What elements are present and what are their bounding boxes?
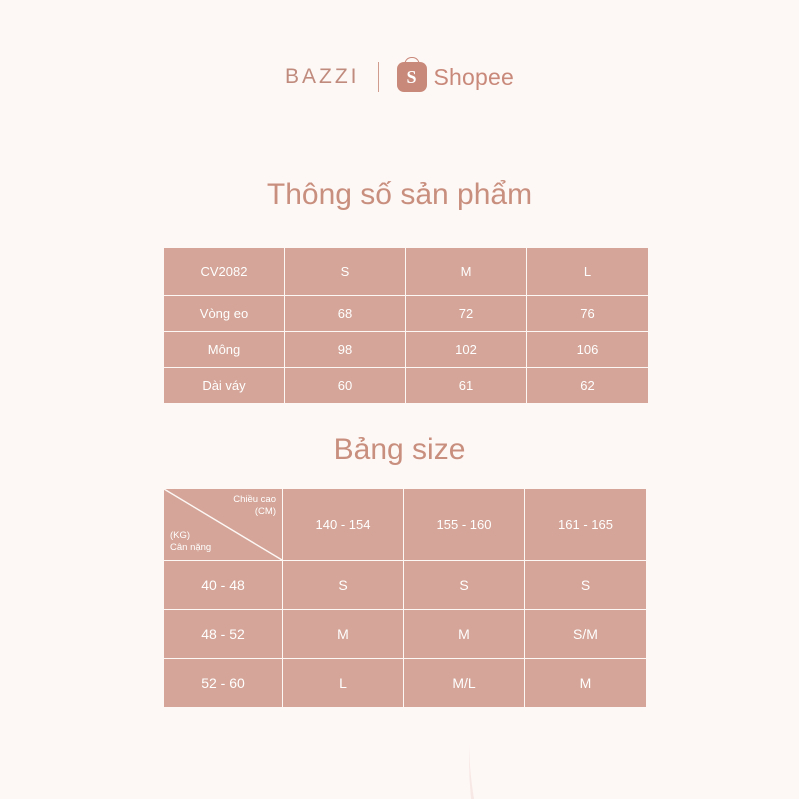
table-header-row: CV2082 S M L	[164, 248, 649, 296]
corner-weight-label: (KG) Cân nặng	[170, 530, 211, 554]
spec-header-size-l: L	[527, 248, 649, 296]
table-row: 52 - 60 L M/L M	[164, 659, 647, 708]
size-cell: M	[283, 610, 404, 659]
spec-row-label: Dài váy	[164, 368, 285, 404]
size-row-label: 40 - 48	[164, 561, 283, 610]
size-row-label: 48 - 52	[164, 610, 283, 659]
size-cell: S/M	[525, 610, 647, 659]
size-chart-table: Chiều cao (CM) (KG) Cân nặng 140 - 154 1…	[163, 488, 647, 708]
spec-cell: 76	[527, 296, 649, 332]
table-header-row: Chiều cao (CM) (KG) Cân nặng 140 - 154 1…	[164, 489, 647, 561]
size-header-height-2: 155 - 160	[404, 489, 525, 561]
size-cell: S	[283, 561, 404, 610]
brand-name-bazzi: BAZZI	[285, 65, 360, 89]
table-row: 40 - 48 S S S	[164, 561, 647, 610]
size-row-label: 52 - 60	[164, 659, 283, 708]
size-cell: S	[525, 561, 647, 610]
size-cell: L	[283, 659, 404, 708]
shopping-bag-icon: S	[397, 62, 427, 92]
corner-height-text: Chiều cao	[233, 494, 276, 506]
spec-cell: 62	[527, 368, 649, 404]
product-spec-table: CV2082 S M L Vòng eo 68 72 76 Mông 98 10…	[163, 247, 649, 404]
spec-header-size-m: M	[406, 248, 527, 296]
size-corner-cell: Chiều cao (CM) (KG) Cân nặng	[164, 489, 283, 561]
shopee-lockup: S Shopee	[397, 62, 515, 92]
corner-height-label: Chiều cao (CM)	[233, 494, 276, 518]
spec-cell: 60	[285, 368, 406, 404]
corner-height-unit: (CM)	[233, 506, 276, 518]
size-header-height-1: 140 - 154	[283, 489, 404, 561]
size-cell: M	[404, 610, 525, 659]
shopping-bag-letter: S	[406, 68, 416, 86]
size-cell: M/L	[404, 659, 525, 708]
corner-weight-unit: (KG)	[170, 530, 211, 542]
spec-header-size-s: S	[285, 248, 406, 296]
spec-cell: 61	[406, 368, 527, 404]
corner-weight-text: Cân nặng	[170, 542, 211, 554]
table-row: Vòng eo 68 72 76	[164, 296, 649, 332]
brand-divider	[378, 62, 379, 92]
size-header-height-3: 161 - 165	[525, 489, 647, 561]
spec-cell: 106	[527, 332, 649, 368]
table-row: Mông 98 102 106	[164, 332, 649, 368]
shopping-bag-handle	[404, 57, 419, 69]
brand-header: BAZZI S Shopee	[0, 62, 799, 92]
spec-header-code: CV2082	[164, 248, 285, 296]
spec-cell: 68	[285, 296, 406, 332]
brand-name-shopee: Shopee	[434, 64, 515, 91]
spec-cell: 102	[406, 332, 527, 368]
spec-section-title: Thông số sản phẩm	[0, 178, 799, 212]
spec-cell: 98	[285, 332, 406, 368]
size-cell: M	[525, 659, 647, 708]
spec-row-label: Vòng eo	[164, 296, 285, 332]
size-chart-page: BAZZI S Shopee Thông số sản phẩm CV2082 …	[0, 0, 799, 799]
spec-row-label: Mông	[164, 332, 285, 368]
size-section-title: Bảng size	[0, 433, 799, 467]
table-row: 48 - 52 M M S/M	[164, 610, 647, 659]
table-row: Dài váy 60 61 62	[164, 368, 649, 404]
size-cell: S	[404, 561, 525, 610]
spec-cell: 72	[406, 296, 527, 332]
